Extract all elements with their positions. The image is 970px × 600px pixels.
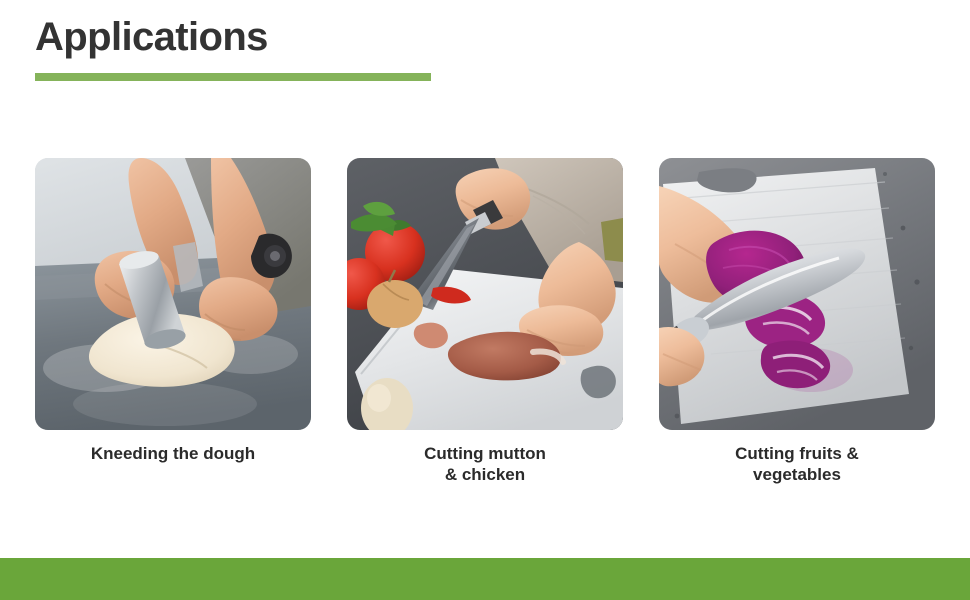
- cutting-vegetables-photo: [659, 158, 935, 430]
- application-card: Cutting fruits & vegetables: [659, 158, 935, 488]
- kneading-dough-photo: [35, 158, 311, 430]
- card-caption: Kneeding the dough: [91, 444, 255, 465]
- applications-banner: Applications: [0, 0, 970, 600]
- card-caption: Cutting fruits & vegetables: [735, 444, 859, 485]
- header: Applications: [35, 14, 555, 60]
- cutting-meat-photo: [347, 158, 623, 430]
- footer-accent-bar: [0, 558, 970, 600]
- applications-card-row: Kneeding the dough: [35, 158, 935, 488]
- application-card: Cutting mutton & chicken: [347, 158, 623, 488]
- title-underline-rule: [35, 73, 431, 81]
- card-caption: Cutting mutton & chicken: [424, 444, 546, 485]
- application-card: Kneeding the dough: [35, 158, 311, 488]
- page-title: Applications: [35, 14, 555, 60]
